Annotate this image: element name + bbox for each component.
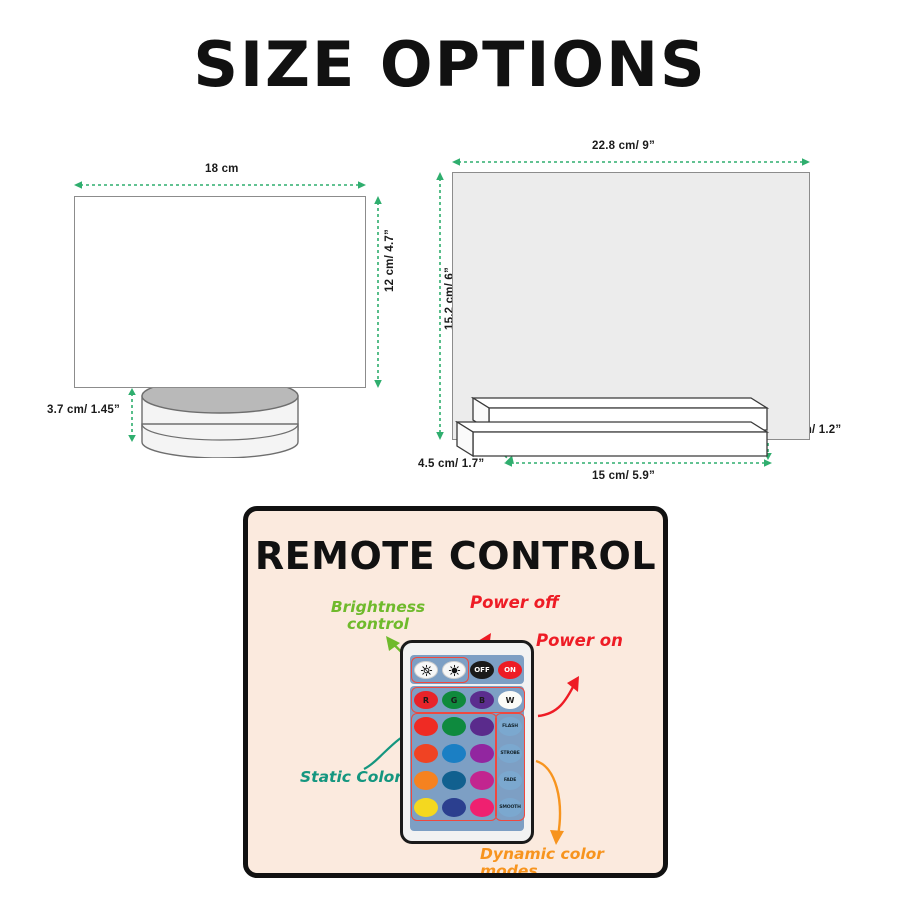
power-off-button[interactable]: OFF [470, 661, 494, 679]
mode-button-strobe[interactable]: STROBE [498, 744, 522, 763]
color-button-r[interactable]: R [414, 691, 438, 709]
static-color-swatch[interactable] [442, 717, 466, 736]
static-color-swatch[interactable] [470, 771, 494, 790]
callout-static-colors: Static Colors [300, 769, 411, 786]
large-width-dimension-line [452, 156, 810, 168]
small-base-height-dimension-line [126, 388, 138, 442]
mode-button-fade-label: FADE [498, 771, 522, 790]
brightness-down-button[interactable] [414, 661, 438, 679]
small-width-label: 18 cm [205, 163, 239, 175]
static-color-swatch[interactable] [470, 798, 494, 817]
color-button-g[interactable]: G [442, 691, 466, 709]
static-color-swatch[interactable] [442, 798, 466, 817]
small-base-height-label: 3.7 cm/ 1.45” [47, 404, 120, 416]
static-color-swatch[interactable] [414, 771, 438, 790]
color-button-w[interactable]: W [498, 691, 522, 709]
color-button-w-label: W [498, 691, 522, 709]
static-color-swatch[interactable] [414, 798, 438, 817]
small-acrylic-plaque [74, 196, 366, 388]
page-title: SIZE OPTIONS [0, 28, 900, 101]
brightness-up-icon [443, 662, 465, 678]
color-button-b-label: B [470, 691, 494, 709]
mode-button-flash-label: FLASH [498, 717, 522, 736]
brightness-up-button[interactable] [442, 661, 466, 679]
rgb-remote-device[interactable]: OFF ON R G B W [400, 640, 534, 844]
static-color-swatch[interactable] [414, 717, 438, 736]
rectangular-led-base [455, 392, 785, 468]
small-height-label: 12 cm/ 4.7” [384, 229, 396, 292]
size-options-infographic: SIZE OPTIONS 18 cm 12 cm/ 4.7” [0, 0, 900, 900]
power-off-label: OFF [470, 661, 494, 679]
brightness-down-icon [415, 662, 437, 678]
callout-brightness-control: Brightness control [318, 599, 438, 634]
power-on-label: ON [498, 661, 522, 679]
static-color-swatch[interactable] [414, 744, 438, 763]
small-width-dimension-line [74, 179, 366, 191]
color-button-r-label: R [414, 691, 438, 709]
static-color-swatch[interactable] [470, 717, 494, 736]
color-button-b[interactable]: B [470, 691, 494, 709]
callout-power-off: Power off [470, 594, 559, 612]
mode-button-fade[interactable]: FADE [498, 771, 522, 790]
callout-power-on: Power on [536, 632, 623, 650]
mode-button-smooth-label: SMOOTH [498, 798, 522, 817]
color-button-g-label: G [442, 691, 466, 709]
mode-button-smooth[interactable]: SMOOTH [498, 798, 522, 817]
large-height-dimension-line [434, 172, 446, 440]
mode-button-strobe-label: STROBE [498, 744, 522, 763]
remote-panel-title: REMOTE CONTROL [248, 534, 663, 578]
large-base-width-label: 15 cm/ 5.9” [592, 470, 655, 482]
mode-button-flash[interactable]: FLASH [498, 717, 522, 736]
callout-dynamic-color-modes: Dynamic color modes [480, 846, 663, 878]
power-on-button[interactable]: ON [498, 661, 522, 679]
remote-keypad: OFF ON R G B W [410, 655, 524, 835]
remote-control-panel: REMOTE CONTROL Brightness control Power … [243, 506, 668, 878]
static-color-swatch[interactable] [470, 744, 494, 763]
small-height-dimension-line [372, 196, 384, 388]
static-color-swatch[interactable] [442, 744, 466, 763]
round-led-base [140, 382, 300, 458]
large-width-label: 22.8 cm/ 9” [592, 140, 655, 152]
static-color-swatch[interactable] [442, 771, 466, 790]
